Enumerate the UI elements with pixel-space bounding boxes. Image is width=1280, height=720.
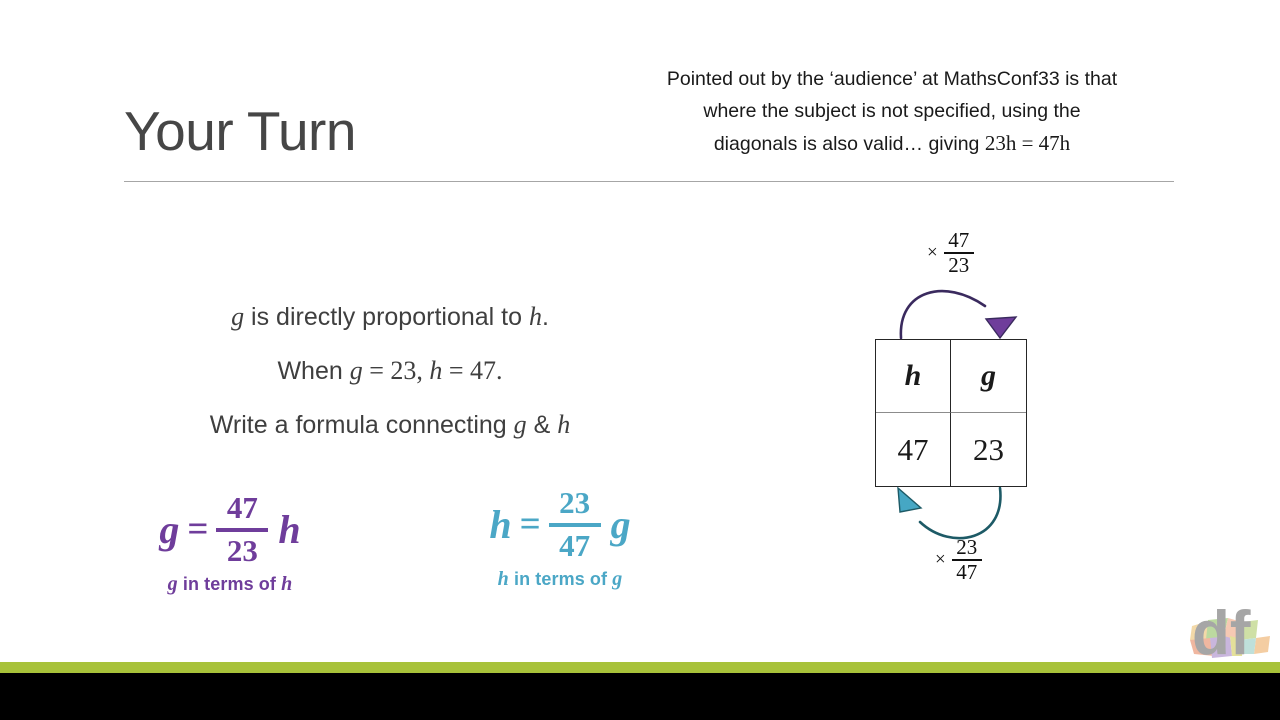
- answer-g-in-terms-of-h: g = 47 23 h g in terms of h: [110, 492, 350, 596]
- question-line2-eq2: =: [442, 356, 470, 385]
- bottom-arrow-denominator: 47: [956, 562, 977, 583]
- question-line3-var2: h: [557, 410, 570, 439]
- formula-h-numerator: 23: [556, 487, 593, 521]
- df-logo: df: [1186, 596, 1274, 662]
- audience-note-line1: Pointed out by the ‘audience’ at MathsCo…: [667, 68, 1117, 90]
- question-line-1: g is directly proportional to h.: [130, 290, 650, 344]
- answer-h-in-terms-of-g: h = 23 47 g h in terms of g: [440, 487, 680, 591]
- question-line2-var2: h: [429, 356, 442, 385]
- top-arrow-label: × 47 23: [927, 230, 974, 276]
- formula-h-equation: h = 23 47 g: [489, 487, 630, 562]
- ratio-table-header-g: g: [951, 340, 1026, 413]
- top-arrow-fraction: 47 23: [944, 230, 974, 276]
- header-divider: [124, 181, 1174, 182]
- formula-g-fraction-bar: [216, 528, 268, 532]
- top-curved-arrow-path: [901, 291, 985, 338]
- bottom-arrow-times-symbol: ×: [935, 549, 946, 571]
- question-line1-var2: h: [529, 302, 542, 331]
- top-arrow-times-symbol: ×: [927, 242, 938, 264]
- formula-g-caption-var1: g: [168, 573, 178, 595]
- top-arrow-denominator: 23: [948, 255, 969, 276]
- formula-g-equation: g = 47 23 h: [159, 492, 300, 567]
- formula-h-equals: =: [518, 506, 543, 543]
- audience-note-line3-math: 23h = 47h: [985, 131, 1070, 155]
- bottom-curved-arrow-path: [920, 488, 1000, 538]
- question-line2-pre: When: [277, 357, 349, 385]
- formula-g-denominator: 23: [224, 534, 261, 568]
- df-logo-letters: df: [1192, 599, 1251, 662]
- formula-g-fraction: 47 23: [216, 492, 268, 567]
- formula-g-caption-mid: in terms of: [178, 574, 281, 594]
- top-arrowhead-icon: [986, 317, 1016, 338]
- question-line1-mid: is directly proportional to: [244, 303, 529, 331]
- question-line2-val1: 23: [390, 356, 416, 385]
- ratio-table: h g 47 23: [875, 339, 1027, 487]
- bottom-arrow-numerator: 23: [956, 537, 977, 558]
- bottom-arrow-fraction: 23 47: [952, 537, 982, 583]
- question-line2-var1: g: [350, 356, 363, 385]
- question-line2-end: .: [496, 356, 503, 385]
- ratio-table-value-g: 23: [951, 413, 1026, 486]
- audience-note: Pointed out by the ‘audience’ at MathsCo…: [600, 63, 1184, 160]
- formula-h-caption-var2: g: [612, 568, 622, 590]
- formula-g-rhs-variable: h: [274, 510, 300, 550]
- formula-h-fraction-bar: [549, 523, 601, 527]
- top-arrow-numerator: 47: [948, 230, 969, 251]
- formula-h-rhs-variable: g: [607, 505, 631, 545]
- formula-h-denominator: 47: [556, 529, 593, 563]
- footer-green-bar: [0, 662, 1280, 673]
- formula-h-lhs: h: [489, 505, 511, 545]
- formula-g-caption: g in terms of h: [110, 573, 350, 596]
- question-line1-var1: g: [231, 302, 244, 331]
- question-line3-var1: g: [514, 410, 527, 439]
- question-line2-sep: ,: [416, 356, 429, 385]
- audience-note-line2: where the subject is not specified, usin…: [703, 100, 1080, 122]
- formula-g-caption-var2: h: [281, 573, 292, 595]
- ratio-table-header-h: h: [876, 340, 951, 413]
- formula-g-equals: =: [185, 511, 210, 548]
- question-line3-amp: &: [527, 411, 558, 439]
- question-line2-val2: 47: [470, 356, 496, 385]
- bottom-arrowhead-icon: [898, 488, 921, 512]
- ratio-table-value-h: 47: [876, 413, 951, 486]
- footer-black-bar: [0, 673, 1280, 720]
- question-line2-eq1: =: [363, 356, 391, 385]
- question-block: g is directly proportional to h. When g …: [130, 290, 650, 452]
- question-line-3: Write a formula connecting g & h: [130, 398, 650, 452]
- audience-note-line3-prefix: diagonals is also valid… giving: [714, 133, 985, 155]
- formula-h-caption-var1: h: [498, 568, 509, 590]
- question-line1-end: .: [542, 303, 549, 331]
- formula-h-caption-mid: in terms of: [509, 569, 612, 589]
- page-title: Your Turn: [124, 104, 356, 159]
- formula-g-lhs: g: [159, 510, 179, 550]
- bottom-arrow-label: × 23 47: [935, 537, 982, 583]
- question-line-2: When g = 23, h = 47.: [130, 344, 650, 398]
- formula-g-numerator: 47: [224, 492, 261, 526]
- question-line3-pre: Write a formula connecting: [210, 411, 514, 439]
- formula-h-fraction: 23 47: [549, 487, 601, 562]
- formula-h-caption: h in terms of g: [440, 568, 680, 591]
